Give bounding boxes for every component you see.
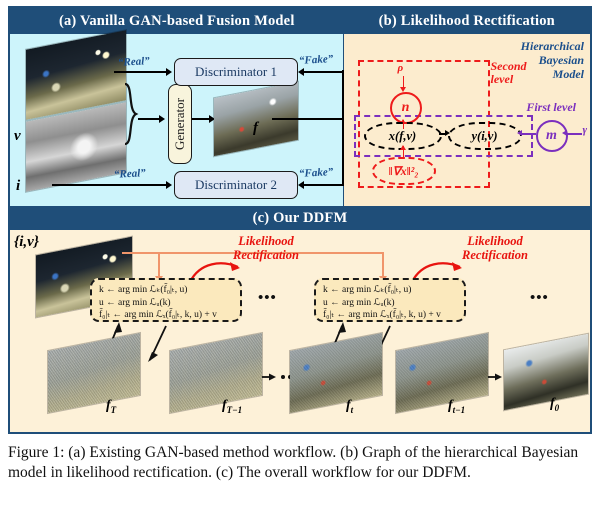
input-label-i: i — [16, 178, 20, 195]
node-grad-norm: ‖∇x‖²₂ — [372, 157, 436, 185]
arrow-f-right-rail — [272, 118, 344, 120]
panel-b-header: (b) Likelihood Rectification — [344, 8, 591, 34]
hbm-line-1: Hierarchical — [474, 40, 584, 54]
step-label-2: ft — [346, 398, 353, 415]
node-y: y(i,v) — [448, 122, 522, 150]
panel-c-body: {i,v} Likelihood Rectification Likelihoo… — [10, 230, 590, 432]
label-real-top: “Real” — [118, 55, 150, 69]
panel-a-body: v i “Real” “Real” Generator f — [10, 34, 344, 206]
step-image-0 — [48, 333, 140, 413]
arrow-v-to-disc1 — [114, 71, 166, 73]
ellipsis-after-box-2: ••• — [530, 290, 549, 307]
second-level-label: Second level — [491, 60, 527, 86]
arrow-m-to-y — [522, 133, 536, 135]
likelihood-rectification-label-2: Likelihood Rectification — [430, 234, 560, 262]
arrow-head-disc1-fake — [298, 68, 304, 76]
node-n: n — [390, 92, 422, 124]
arrow-head-gamma-m — [562, 130, 567, 136]
step-label-3-sub: t−1 — [453, 405, 465, 415]
lr-label-1-line-2: Rectification — [206, 248, 326, 262]
step-label-4-sub: 0 — [555, 403, 560, 413]
arrow-head-grad-x — [400, 145, 406, 150]
arrow-head-m-y — [517, 130, 522, 136]
step-label-1: fT−1 — [222, 398, 242, 415]
node-gamma-label: γ — [583, 124, 588, 136]
equation-box-1-line-1: k ← arg min ℒₖ(f̃₀|ₜ, u) — [99, 284, 233, 297]
step-label-0: fT — [106, 398, 116, 415]
arrow-gamma-to-m — [566, 133, 582, 135]
equation-box-2-line-3: f̃₀|ₜ ← arg min ℒₓ(f̃₀|ₜ, k, u) + v — [323, 309, 457, 322]
step-label-4: f0 — [550, 396, 559, 413]
equation-box-2-line-1: k ← arg min ℒₖ(f̃₀|ₜ, u) — [323, 284, 457, 297]
salmon-feed-drop-2 — [382, 252, 384, 278]
equation-box-1-line-2: u ← arg min ℒᵤ(k) — [99, 297, 233, 310]
label-fake-top: “Fake” — [299, 53, 334, 67]
arrow-rail-to-disc1 — [302, 71, 344, 73]
second-level-line-2: level — [491, 73, 527, 86]
ellipsis-between-boxes: ••• — [258, 290, 277, 307]
label-fake-bottom: “Fake” — [299, 166, 334, 180]
input-brace-icon — [122, 82, 140, 146]
equation-box-2-line-2: u ← arg min ℒᵤ(k) — [323, 297, 457, 310]
step-image-2 — [290, 333, 382, 413]
first-level-label: First level — [526, 100, 576, 115]
arrow-head-disc2-fake — [298, 181, 304, 189]
node-rho-label: ρ — [398, 62, 404, 74]
figure-container: (a) Vanilla GAN-based Fusion Model v i “… — [8, 6, 592, 434]
likelihood-rectification-label-1: Likelihood Rectification — [206, 234, 326, 262]
output-label-f: f — [253, 120, 258, 137]
step-image-3 — [396, 333, 488, 413]
generator-label: Generator — [172, 98, 188, 150]
equation-box-2[interactable]: k ← arg min ℒₖ(f̃₀|ₜ, u) u ← arg min ℒᵤ(… — [314, 278, 466, 322]
step-label-0-sub: T — [111, 405, 117, 415]
lr-label-2-line-2: Rectification — [430, 248, 560, 262]
lr-label-2-line-1: Likelihood — [430, 234, 560, 248]
arrow-head-i-disc2 — [166, 181, 172, 189]
arrow-rail-to-disc2 — [302, 184, 344, 186]
step-image-4 — [504, 334, 588, 410]
input-label-v: v — [14, 128, 21, 145]
arrow-head-v-disc1 — [166, 68, 172, 76]
salmon-feed-drop-1 — [158, 252, 160, 278]
figure-caption: Figure 1: (a) Existing GAN-based method … — [8, 443, 592, 483]
equation-box-1[interactable]: k ← arg min ℒₖ(f̃₀|ₜ, u) u ← arg min ℒᵤ(… — [90, 278, 242, 322]
arrow-i-to-disc2 — [52, 184, 168, 186]
step-label-3: ft−1 — [448, 398, 465, 415]
arrow-to-generator — [138, 118, 160, 120]
panel-b-body: Hierarchical Bayesian Model Second level… — [344, 34, 591, 206]
arrow-generator-to-f — [192, 118, 210, 120]
arrow-head-generator — [159, 115, 165, 123]
discriminator-2-box[interactable]: Discriminator 2 — [174, 171, 298, 199]
panel-c-input-label: {i,v} — [14, 234, 39, 251]
node-m: m — [536, 120, 568, 152]
step-label-1-sub: T−1 — [227, 405, 242, 415]
panel-a-header: (a) Vanilla GAN-based Fusion Model — [10, 8, 344, 34]
generator-box[interactable]: Generator — [168, 84, 192, 164]
discriminator-1-box[interactable]: Discriminator 1 — [174, 58, 298, 86]
equation-box-1-line-3: f̃₀|ₜ ← arg min ℒₓ(f̃₀|ₜ, k, u) + v — [99, 309, 233, 322]
lr-label-1-line-1: Likelihood — [206, 234, 326, 248]
step-image-1 — [170, 333, 262, 413]
label-real-bottom: “Real” — [114, 167, 146, 181]
panel-c-header: (c) Our DDFM — [10, 206, 590, 230]
step-label-2-sub: t — [351, 405, 354, 415]
